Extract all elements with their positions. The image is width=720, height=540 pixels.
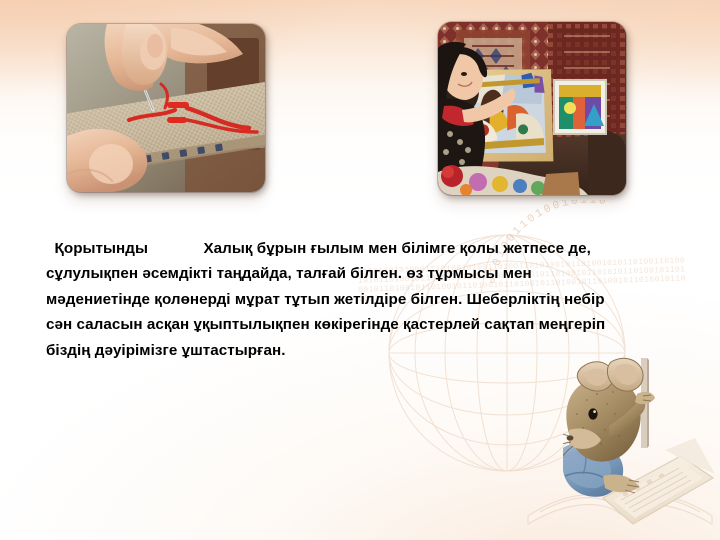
mouse-with-laptop-illustration — [563, 352, 720, 540]
craftswoman-artwork-photo — [438, 22, 626, 195]
slide-canvas: 01010011010010110 0100110101000111010010… — [0, 0, 720, 540]
embroidery-hands-photo — [67, 24, 265, 192]
slide-body-text: Қорытынды Халық бұрын ғылым мен білімге … — [46, 236, 606, 363]
